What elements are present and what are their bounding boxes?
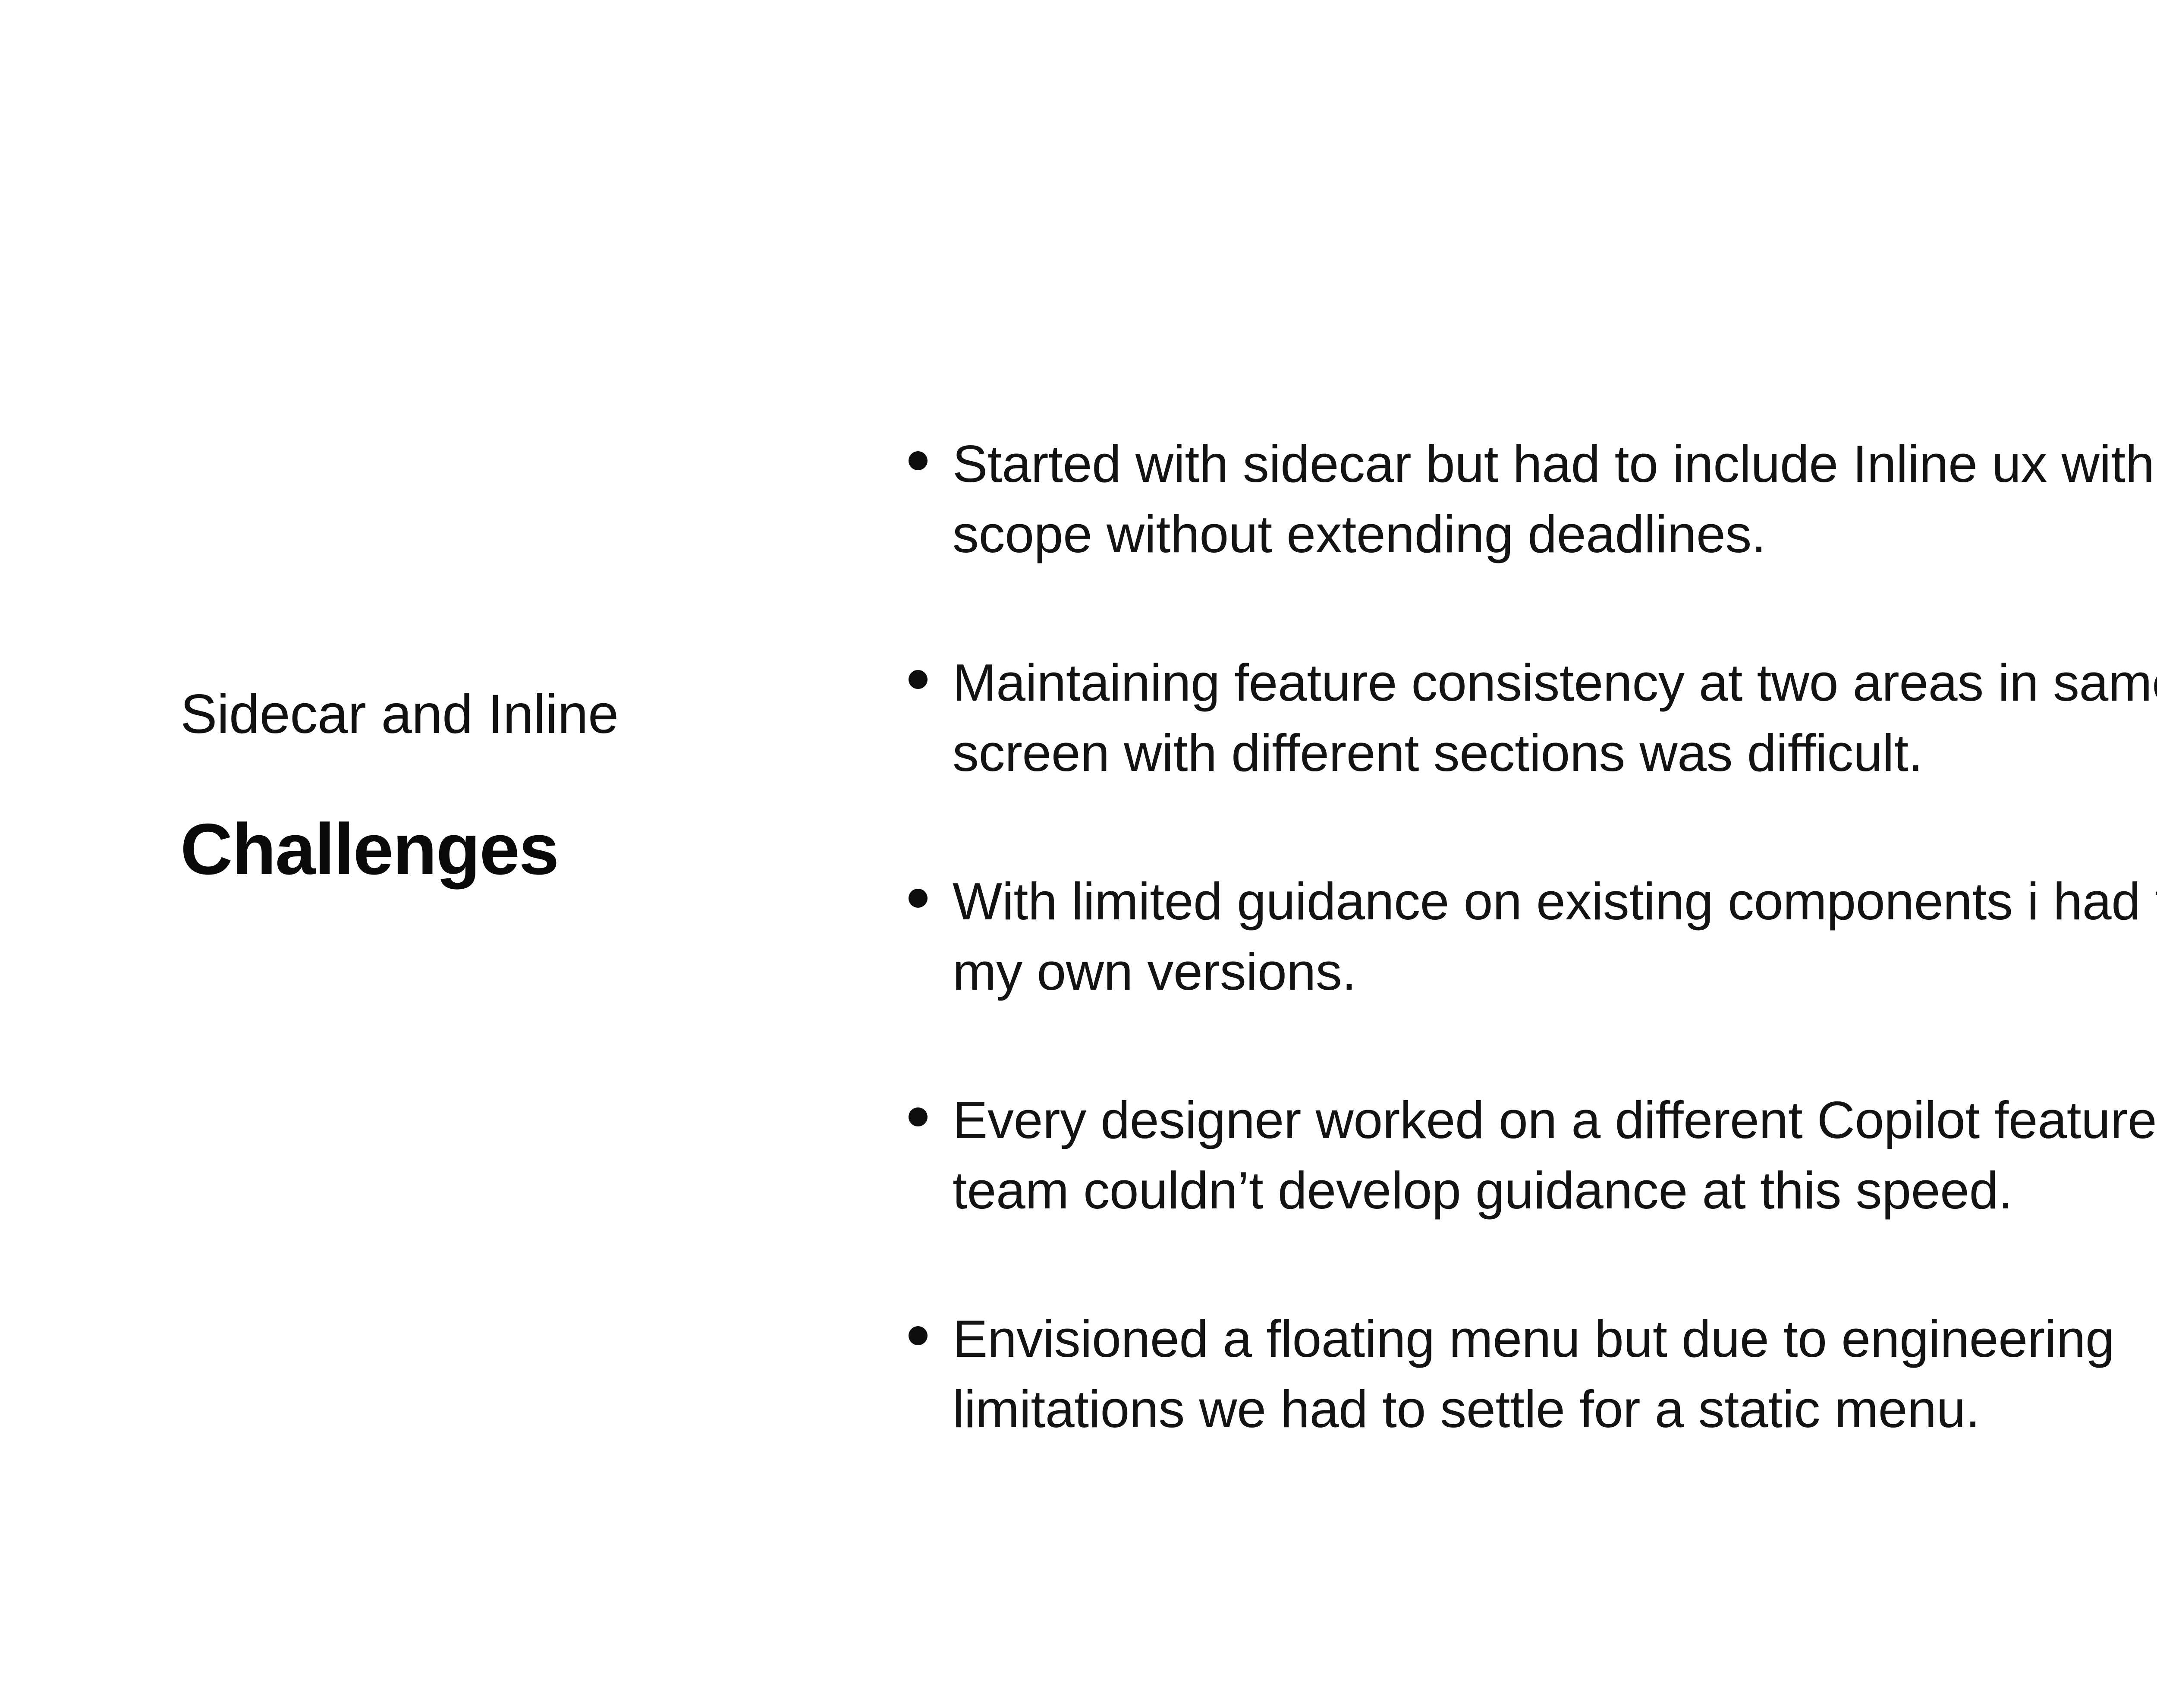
bullet-dot-icon — [909, 1326, 928, 1345]
list-item: Maintaining feature consistency at two a… — [906, 648, 2157, 789]
list-item: With limited guidance on existing compon… — [906, 866, 2157, 1007]
bullet-dot-icon — [909, 1107, 928, 1126]
bullet-dot-icon — [909, 451, 928, 470]
list-item-text: Every designer worked on a different Cop… — [953, 1085, 2157, 1226]
list-item: Every designer worked on a different Cop… — [906, 1085, 2157, 1226]
list-item-text: With limited guidance on existing compon… — [953, 866, 2157, 1007]
list-item: Started with sidecar but had to include … — [906, 429, 2157, 570]
list-item-text: Maintaining feature consistency at two a… — [953, 648, 2157, 789]
list-item-text: Started with sidecar but had to include … — [953, 429, 2157, 570]
challenges-bullet-list: Started with sidecar but had to include … — [906, 429, 2157, 1445]
list-item: Envisioned a floating menu but due to en… — [906, 1304, 2157, 1445]
bullet-dot-icon — [909, 889, 928, 908]
page-title: Challenges — [180, 811, 853, 887]
bullet-dot-icon — [909, 670, 928, 689]
section-eyebrow: Sidecar and Inline — [180, 682, 853, 747]
slide-canvas: Sidecar and Inline Challenges Started wi… — [0, 0, 2157, 1708]
list-item-text: Envisioned a floating menu but due to en… — [953, 1304, 2157, 1445]
heading-column: Sidecar and Inline Challenges — [180, 682, 853, 887]
